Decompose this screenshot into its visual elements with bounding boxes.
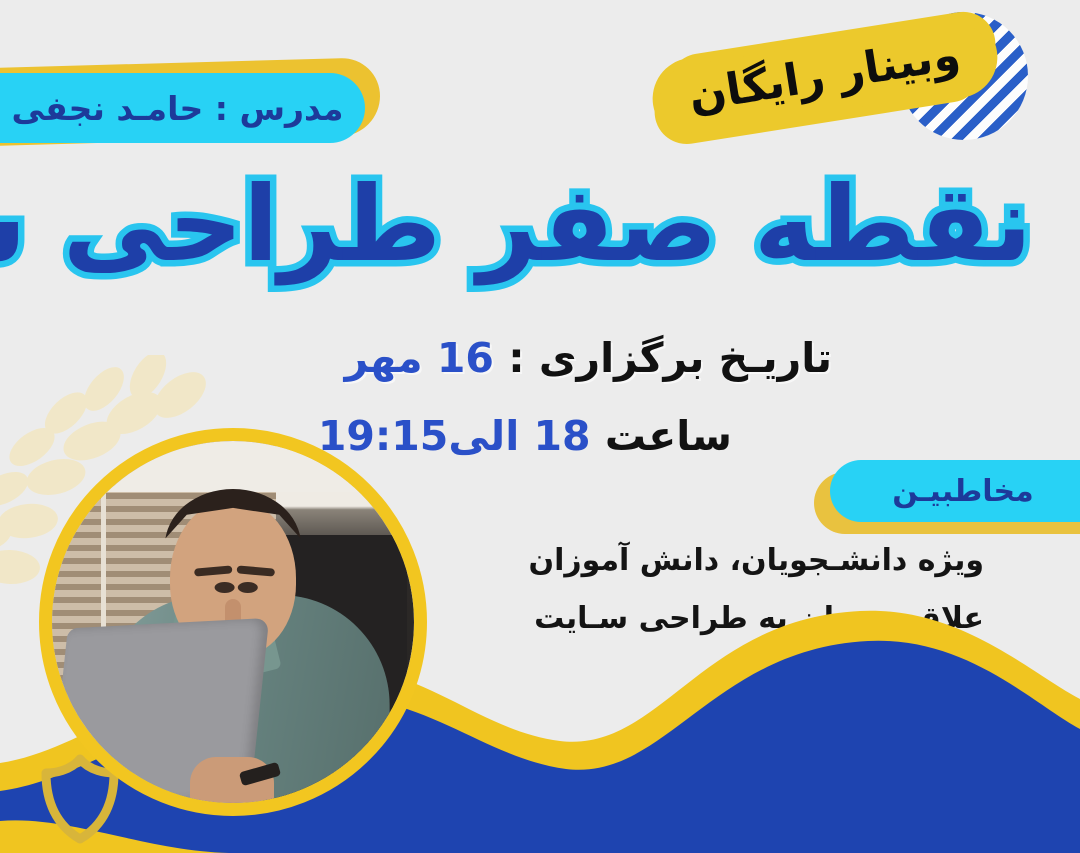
instructor-label: مدرس : حامـد نجفی xyxy=(12,89,344,128)
event-time-label: ساعت xyxy=(605,412,732,460)
audience-list-item: صاحبان مشـاغل xyxy=(529,662,984,692)
instructor-banner: مدرس : حامـد نجفی xyxy=(0,63,380,141)
audience-heading-banner: مخاطبیـن xyxy=(830,460,1080,530)
audience-banner-body: مخاطبیـن xyxy=(830,460,1080,522)
event-date-line: تاریـخ برگزاری : 16 مهر xyxy=(345,334,832,382)
event-date-label: تاریـخ برگزاری : xyxy=(508,334,832,382)
presenter-photo xyxy=(39,428,427,816)
audience-list-item: علاقـه مندان به طراحی سـایت xyxy=(529,604,984,634)
presenter-eye-right xyxy=(238,582,258,593)
instructor-banner-body: مدرس : حامـد نجفی xyxy=(0,73,365,143)
event-date-value: 16 مهر xyxy=(345,334,494,382)
audience-list-item: ویژه دانشـجویان، دانش آموزان xyxy=(529,546,984,576)
presenter-photo-inner xyxy=(52,441,414,803)
page-title: نقطه صفر طراحی سایت xyxy=(0,168,1032,280)
webinar-poster: وبینار رایگان مدرس : حامـد نجفی نقطه صفر… xyxy=(0,0,1080,853)
office-wall xyxy=(52,441,414,492)
audience-list: ویژه دانشـجویان، دانش آموزان علاقـه مندا… xyxy=(529,546,984,720)
presenter-eye-left xyxy=(215,582,235,593)
audience-heading-label: مخاطبیـن xyxy=(892,474,1033,509)
